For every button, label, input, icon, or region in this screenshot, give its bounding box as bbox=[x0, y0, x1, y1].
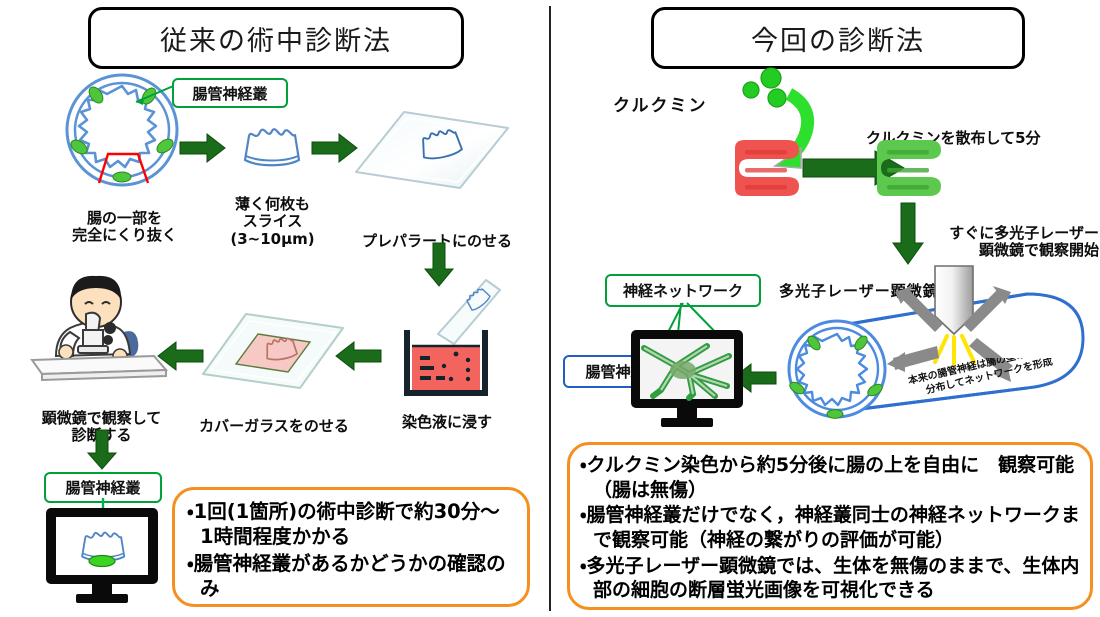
intestine-tube-icon: 本来の腸管神経は腸の壁の中に広く 分布してネットワークを形成 bbox=[775, 272, 1100, 424]
left-panel: 従来の術中診断法 腸管神経叢 腸の一部を 完全にく bbox=[0, 0, 549, 617]
label-intestinal-nerve-plexus-top: 腸管神経叢 bbox=[172, 78, 288, 108]
right-panel-title: 今回の診断法 bbox=[751, 19, 925, 58]
step-caption-stain: 染色液に浸す bbox=[392, 396, 502, 431]
left-note-item: 腸管神経叢があるかどうかの確認のみ bbox=[187, 551, 517, 602]
stain-beaker-icon bbox=[400, 330, 492, 398]
slide-glass-icon bbox=[352, 108, 512, 200]
right-note-box: クルクミン染色から約5分後に腸の上を自由に 観察可能（腸は無傷） 腸管神経叢だけ… bbox=[567, 442, 1093, 610]
left-note-box: 1回(1箇所)の術中診断で約30分～ 1時間程度かかる 腸管神経叢があるかどうか… bbox=[172, 487, 530, 607]
right-panel-title-box: 今回の診断法 bbox=[651, 7, 1025, 69]
scientist-microscope-icon bbox=[28, 276, 170, 386]
label-text: 神経ネットワーク bbox=[623, 280, 743, 301]
left-note-list: 1回(1箇所)の術中診断で約30分～ 1時間程度かかる 腸管神経叢があるかどうか… bbox=[175, 490, 527, 608]
step-caption-excise: 腸の一部を 完全にくり抜く bbox=[42, 192, 207, 245]
label-text: 腸管神経叢 bbox=[65, 477, 140, 498]
curcumin-label: クルクミン bbox=[613, 76, 733, 116]
label-text: 腸管神経叢 bbox=[192, 83, 267, 104]
right-note-item: 多光子レーザー顕微鏡では、生体を無傷のままで、生体内部の細胞の断層蛍光画像を可視… bbox=[580, 554, 1082, 603]
left-note-item: 1回(1箇所)の術中診断で約30分～ 1時間程度かかる bbox=[187, 499, 517, 550]
right-note-list: クルクミン染色から約5分後に腸の上を自由に 観察可能（腸は無傷） 腸管神経叢だけ… bbox=[570, 445, 1090, 608]
intestine-green-icon bbox=[871, 138, 945, 200]
monitor-icon bbox=[631, 330, 743, 430]
intestine-red-icon bbox=[729, 138, 803, 200]
tube-annotation: 本来の腸管神経は腸の壁の中に広く 分布してネットワークを形成 bbox=[893, 358, 1083, 404]
arrow-down-icon bbox=[891, 203, 925, 265]
tissue-slice-icon bbox=[241, 126, 303, 171]
right-note-item: クルクミン染色から約5分後に腸の上を自由に 観察可能（腸は無傷） bbox=[580, 453, 1082, 502]
left-panel-title: 従来の術中診断法 bbox=[160, 19, 392, 58]
arrow-down-icon bbox=[86, 430, 118, 470]
left-panel-title-box: 従来の術中診断法 bbox=[88, 7, 464, 69]
step-caption-slice: 薄く何枚も スライス (3~10μm) bbox=[205, 178, 340, 249]
right-panel: 今回の診断法 クルクミン bbox=[551, 0, 1100, 617]
cover-glass-slide-icon bbox=[200, 312, 346, 398]
immediate-observation-caption: すぐに多光子レーザー 顕微鏡で観察開始 bbox=[939, 207, 1099, 260]
step-caption-coverglass: カバーガラスをのせる bbox=[196, 400, 352, 435]
diagram-root: 従来の術中診断法 腸管神経叢 腸の一部を 完全にく bbox=[0, 0, 1100, 617]
right-note-item: 腸管神経叢だけでなく，神経叢同士の神経ネットワークまで観察可能（神経の繋がりの評… bbox=[580, 503, 1082, 552]
monitor-icon bbox=[46, 508, 158, 606]
arrow-right-icon bbox=[180, 132, 226, 164]
